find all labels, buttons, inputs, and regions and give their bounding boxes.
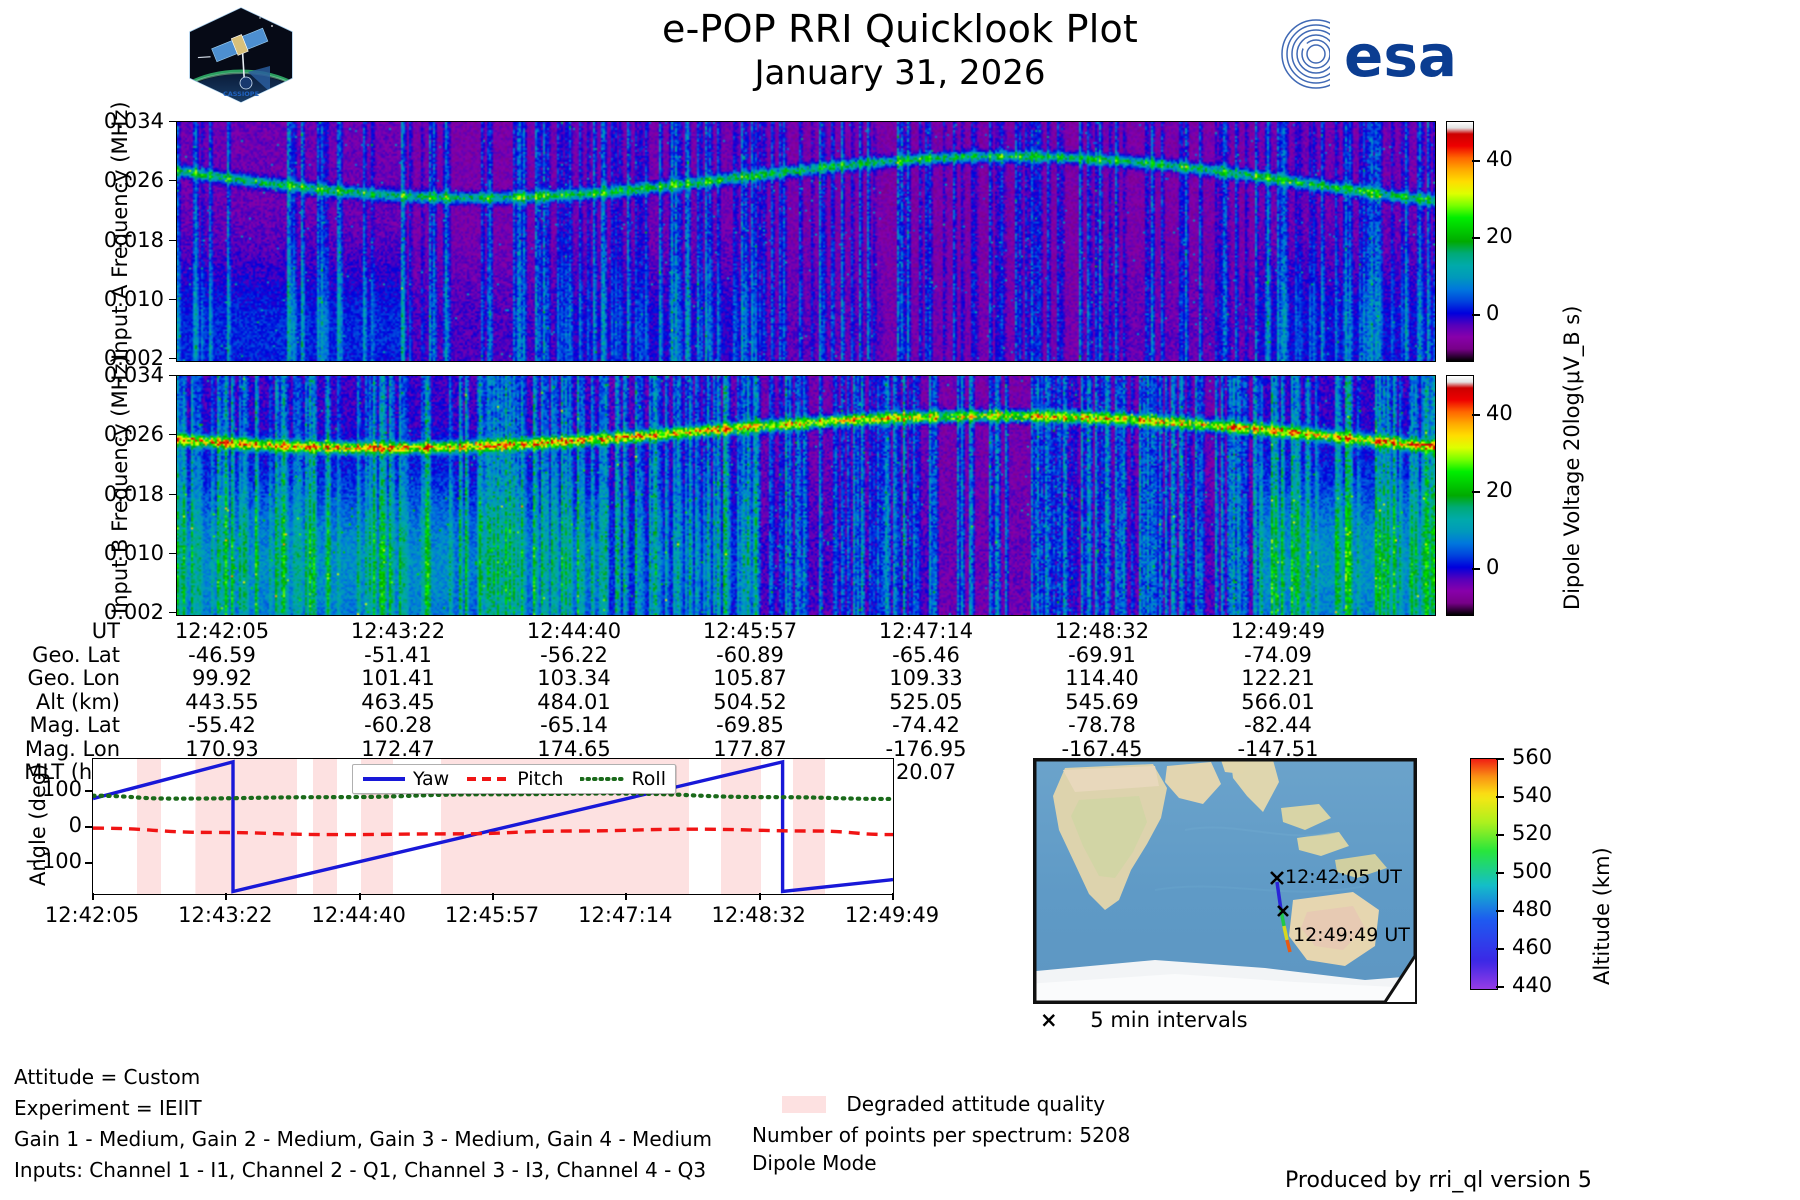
interval-legend-label: 5 min intervals — [1090, 1008, 1247, 1032]
ephemeris-cell: -69.85 — [662, 714, 838, 738]
attitude-ytick-label: 0 — [12, 813, 82, 837]
altitude-tick-label: 540 — [1512, 783, 1552, 807]
attitude-xtick-label: 12:43:22 — [160, 903, 290, 927]
esa-logo-text: esa — [1344, 22, 1457, 90]
track-end-label: 12:49:49 UT — [1293, 924, 1410, 946]
ephemeris-cell: 566.01 — [1190, 691, 1366, 715]
colorbar-tick-mark — [1472, 568, 1480, 570]
spectrogram-a-ytick: 0.026 — [78, 168, 164, 192]
legend-swatch-yaw — [362, 773, 406, 785]
colorbar-title: Dipole Voltage 20log(μV_B s) — [1560, 306, 1584, 610]
altitude-colorbar — [1470, 758, 1498, 990]
ephemeris-row: Geo. Lat-46.59-51.41-56.22-60.89-65.46-6… — [0, 644, 1366, 668]
spectrogram-b-ytick: 0.018 — [78, 482, 164, 506]
attitude-xtick-label: 12:49:49 — [827, 903, 957, 927]
ytick-mark — [169, 434, 176, 435]
colorbar-tick-label: 0 — [1486, 555, 1499, 579]
altitude-tick-mark — [1496, 834, 1504, 836]
altitude-tick-mark — [1496, 948, 1504, 950]
ephemeris-cell: 109.33 — [838, 667, 1014, 691]
ephemeris-cell: -74.09 — [1190, 644, 1366, 668]
esa-logo: esa — [1272, 16, 1482, 92]
legend-swatch-roll — [580, 773, 624, 785]
dipole-mode-label: Dipole Mode — [752, 1150, 877, 1177]
attitude-xtick-label: 12:44:40 — [294, 903, 424, 927]
attitude-ytick-mark — [85, 790, 92, 792]
degraded-attitude-region — [721, 759, 761, 894]
degraded-attitude-region — [137, 759, 161, 894]
ephemeris-cell: -69.91 — [1014, 644, 1190, 668]
attitude-ytick-label: −100 — [12, 849, 82, 873]
degraded-legend-label: Degraded attitude quality — [846, 1092, 1105, 1116]
page-subtitle: January 31, 2026 — [0, 52, 1800, 94]
attitude-xtick-mark — [492, 893, 494, 900]
colorbar-input-a — [1446, 121, 1474, 362]
attitude-xtick-mark — [359, 893, 361, 900]
attitude-ytick-label: 100 — [12, 777, 82, 801]
attitude-xtick-label: 12:45:57 — [427, 903, 557, 927]
ephemeris-row: Alt (km)443.55463.45484.01504.52525.0554… — [0, 691, 1366, 715]
colorbar-tick-label: 20 — [1486, 224, 1513, 248]
ephemeris-cell: 114.40 — [1014, 667, 1190, 691]
ephemeris-cell: 99.92 — [134, 667, 310, 691]
ephemeris-cell: 12:47:14 — [838, 620, 1014, 644]
altitude-tick-label: 440 — [1512, 973, 1552, 997]
ytick-mark — [169, 299, 176, 300]
ephemeris-row: Mag. Lat-55.42-60.28-65.14-69.85-74.42-7… — [0, 714, 1366, 738]
ephemeris-cell: 105.87 — [662, 667, 838, 691]
ephemeris-cell: -65.14 — [486, 714, 662, 738]
spectrogram-a-image — [177, 122, 1435, 361]
legend-item-yaw: Yaw — [362, 768, 449, 790]
ephemeris-cell: 12:42:05 — [134, 620, 310, 644]
ephemeris-cell: 12:44:40 — [486, 620, 662, 644]
altitude-tick-mark — [1496, 796, 1504, 798]
altitude-tick-label: 560 — [1512, 745, 1552, 769]
ephemeris-cell: -82.44 — [1190, 714, 1366, 738]
ephemeris-cell: 525.05 — [838, 691, 1014, 715]
footer-info-line: Gain 1 - Medium, Gain 2 - Medium, Gain 3… — [14, 1126, 712, 1153]
ephemeris-row-label: UT — [0, 620, 134, 644]
ephemeris-row: UT12:42:0512:43:2212:44:4012:45:5712:47:… — [0, 620, 1366, 644]
ephemeris-cell: -78.78 — [1014, 714, 1190, 738]
legend-label: Yaw — [413, 768, 449, 790]
attitude-ytick-mark — [85, 826, 92, 828]
footer-info-line: Attitude = Custom — [14, 1064, 200, 1091]
altitude-tick-mark — [1496, 986, 1504, 988]
map-interval-legend: × 5 min intervals — [1040, 1008, 1248, 1032]
interval-marker-icon: × — [1040, 1008, 1058, 1032]
ytick-mark — [169, 375, 176, 376]
ephemeris-cell: 443.55 — [134, 691, 310, 715]
colorbar-tick-mark — [1472, 314, 1480, 316]
ytick-mark — [169, 612, 176, 613]
colorbar-tick-label: 0 — [1486, 301, 1499, 325]
spectrogram-b-ytick: 0.010 — [78, 541, 164, 565]
attitude-xtick-label: 12:42:05 — [27, 903, 157, 927]
ytick-mark — [169, 494, 176, 495]
ephemeris-cell: 101.41 — [310, 667, 486, 691]
degraded-legend-row: Degraded attitude quality — [782, 1091, 1105, 1118]
ephemeris-cell: -65.46 — [838, 644, 1014, 668]
spectrogram-b-image — [177, 376, 1435, 615]
degraded-attitude-region — [195, 759, 297, 894]
ephemeris-cell: -51.41 — [310, 644, 486, 668]
colorbar-tick-mark — [1472, 237, 1480, 239]
ephemeris-cell: 12:43:22 — [310, 620, 486, 644]
attitude-xtick-mark — [92, 893, 94, 900]
ephemeris-cell: -46.59 — [134, 644, 310, 668]
footer-info-line: Inputs: Channel 1 - I1, Channel 2 - Q1, … — [14, 1157, 706, 1184]
ephemeris-cell: 103.34 — [486, 667, 662, 691]
ephemeris-cell: 122.21 — [1190, 667, 1366, 691]
ephemeris-cell: 12:49:49 — [1190, 620, 1366, 644]
degraded-swatch — [782, 1096, 826, 1113]
legend-item-pitch: Pitch — [466, 768, 563, 790]
altitude-tick-label: 500 — [1512, 859, 1552, 883]
spectrogram-a-ytick: 0.018 — [78, 228, 164, 252]
ephemeris-row-label: Mag. Lat — [0, 714, 134, 738]
ephemeris-cell: 463.45 — [310, 691, 486, 715]
footer-info-line: Experiment = IEIIT — [14, 1095, 202, 1122]
ephemeris-row: Geo. Lon99.92101.41103.34105.87109.33114… — [0, 667, 1366, 691]
ephemeris-cell: -56.22 — [486, 644, 662, 668]
altitude-tick-label: 460 — [1512, 935, 1552, 959]
colorbar-tick-mark — [1472, 414, 1480, 416]
spectrogram-b-ytick: 0.026 — [78, 422, 164, 446]
ytick-mark — [169, 180, 176, 181]
attitude-xtick-mark — [225, 893, 227, 900]
altitude-tick-mark — [1496, 758, 1504, 760]
attitude-xtick-label: 12:47:14 — [560, 903, 690, 927]
degraded-attitude-region — [793, 759, 825, 894]
altitude-colorbar-title: Altitude (km) — [1590, 847, 1614, 985]
colorbar-tick-label: 40 — [1486, 147, 1513, 171]
ytick-mark — [169, 358, 176, 359]
ephemeris-cell: 504.52 — [662, 691, 838, 715]
page-title: e-POP RRI Quicklook Plot — [0, 6, 1800, 52]
produced-by-label: Produced by rri_ql version 5 — [1285, 1168, 1592, 1193]
ephemeris-row-label: Alt (km) — [0, 691, 134, 715]
spectrogram-a-ytick: 0.010 — [78, 287, 164, 311]
ephemeris-cell: -60.89 — [662, 644, 838, 668]
colorbar-tick-mark — [1472, 491, 1480, 493]
degraded-attitude-region — [313, 759, 337, 894]
attitude-xtick-label: 12:48:32 — [694, 903, 824, 927]
ephemeris-cell: 545.69 — [1014, 691, 1190, 715]
ephemeris-cell: -55.42 — [134, 714, 310, 738]
colorbar-tick-label: 20 — [1486, 478, 1513, 502]
spectrogram-a-panel[interactable] — [176, 121, 1436, 362]
track-start-label: 12:42:05 UT — [1285, 866, 1402, 888]
attitude-legend: YawPitchRoll — [352, 764, 676, 794]
ytick-mark — [169, 121, 176, 122]
points-per-spectrum-label: Number of points per spectrum: 5208 — [752, 1122, 1130, 1149]
ephemeris-row-label: Geo. Lat — [0, 644, 134, 668]
spectrogram-b-ytick: 0.034 — [78, 363, 164, 387]
attitude-xtick-mark — [892, 893, 894, 900]
colorbar-input-b — [1446, 375, 1474, 616]
legend-label: Pitch — [517, 768, 563, 790]
ephemeris-cell: -74.42 — [838, 714, 1014, 738]
ephemeris-row-label: Geo. Lon — [0, 667, 134, 691]
ephemeris-cell: 12:48:32 — [1014, 620, 1190, 644]
ground-track-map[interactable]: 12:42:05 UT 12:49:49 UT — [1033, 758, 1417, 1004]
ephemeris-cell: 484.01 — [486, 691, 662, 715]
attitude-xtick-mark — [625, 893, 627, 900]
altitude-tick-label: 520 — [1512, 821, 1552, 845]
ytick-mark — [169, 553, 176, 554]
altitude-tick-mark — [1496, 872, 1504, 874]
attitude-ytick-mark — [85, 862, 92, 864]
attitude-xtick-mark — [759, 893, 761, 900]
legend-swatch-pitch — [466, 773, 510, 785]
colorbar-tick-label: 40 — [1486, 401, 1513, 425]
ytick-mark — [169, 240, 176, 241]
altitude-tick-label: 480 — [1512, 897, 1552, 921]
colorbar-tick-mark — [1472, 160, 1480, 162]
altitude-tick-mark — [1496, 910, 1504, 912]
ephemeris-cell: -60.28 — [310, 714, 486, 738]
spectrogram-a-ytick: 0.034 — [78, 109, 164, 133]
spectrogram-b-panel[interactable] — [176, 375, 1436, 616]
legend-item-roll: Roll — [580, 768, 666, 790]
ephemeris-cell: 12:45:57 — [662, 620, 838, 644]
legend-label: Roll — [631, 768, 666, 790]
